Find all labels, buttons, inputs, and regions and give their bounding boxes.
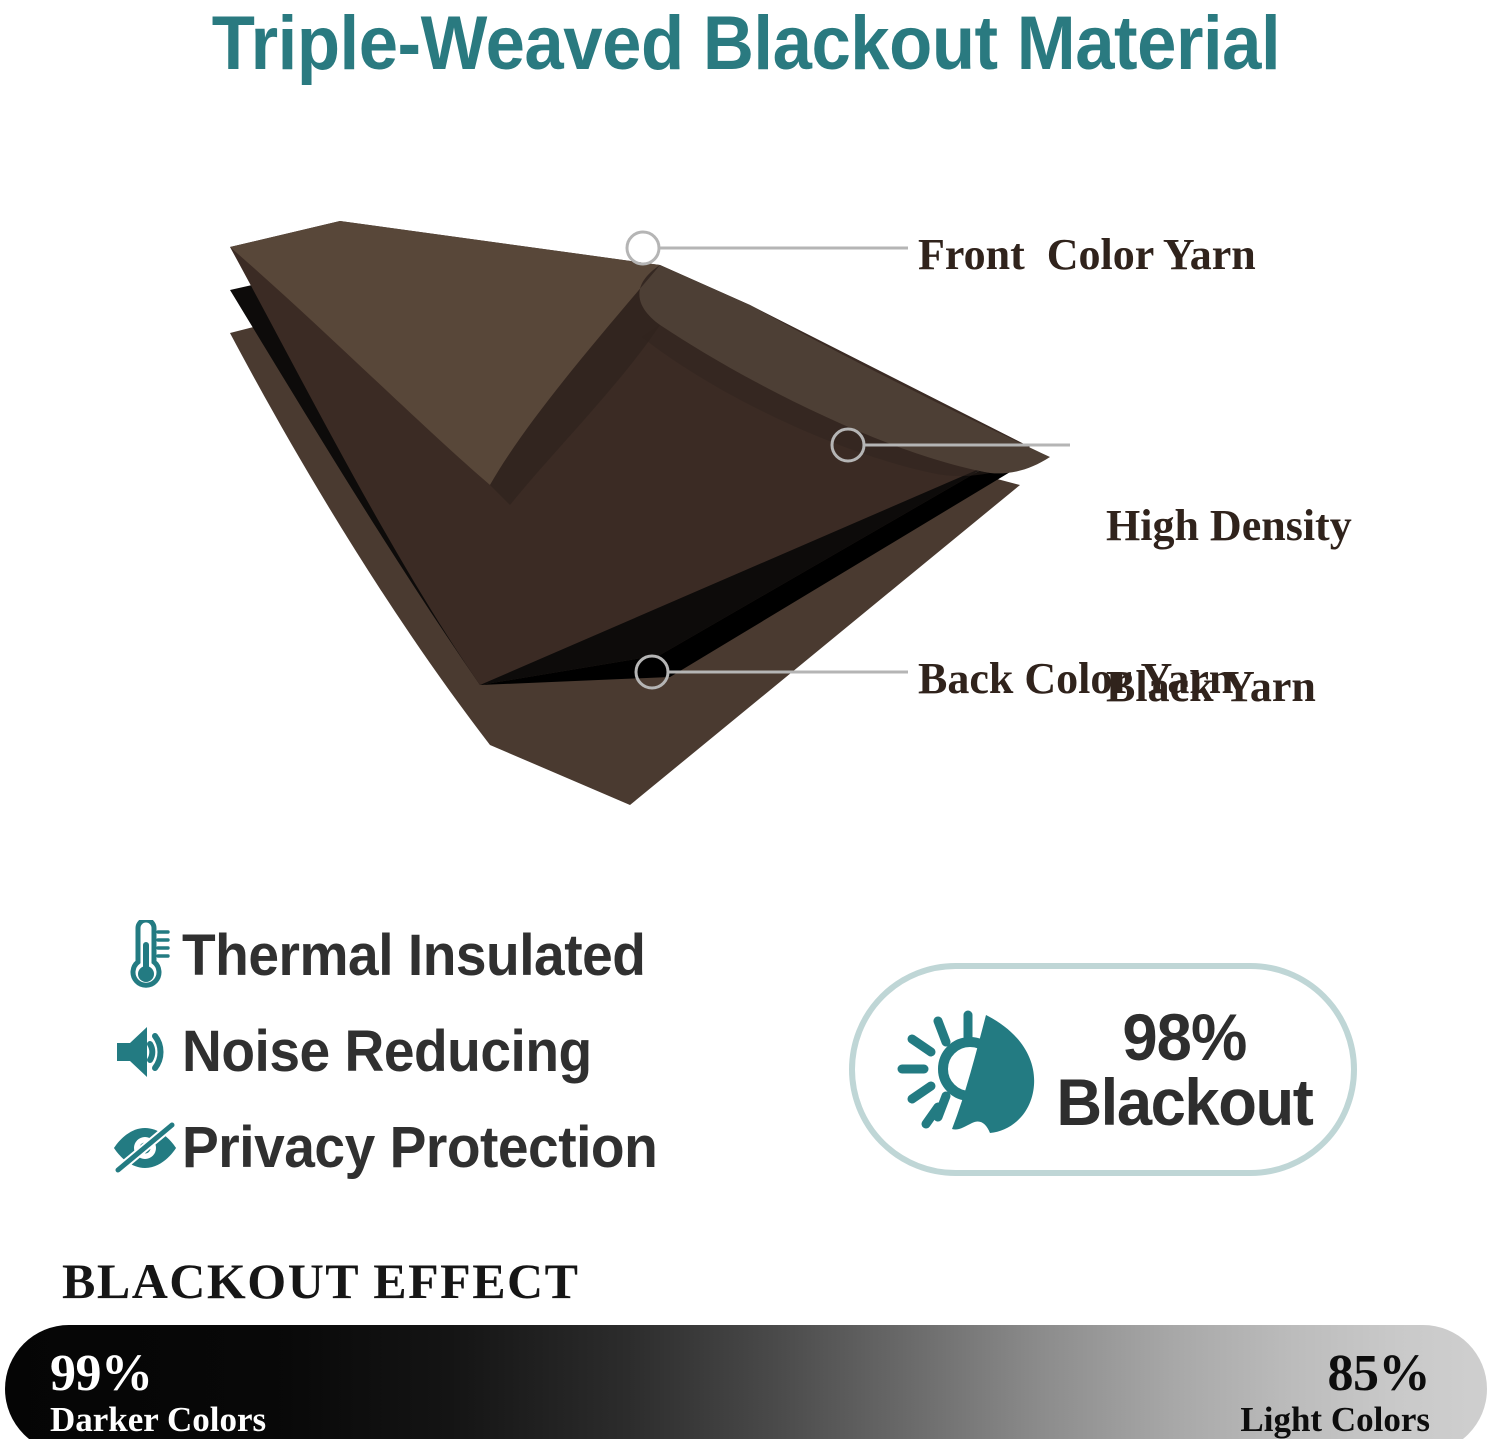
right-percent: 85%: [1240, 1347, 1430, 1401]
feature-list: Thermal Insulated Noise Reducing: [108, 908, 808, 1196]
label-line-1: High Density: [1106, 499, 1352, 553]
badge-word: Blackout: [1056, 1070, 1312, 1134]
gradient-bar-right-stat: 85% Light Colors: [1240, 1347, 1430, 1438]
page-title: Triple-Weaved Blackout Material: [52, 2, 1440, 86]
speaker-icon: [108, 1022, 182, 1082]
feature-item-noise: Noise Reducing: [108, 1004, 808, 1100]
badge-text: 98% Blackout: [1056, 1005, 1312, 1133]
feature-label-thermal: Thermal Insulated: [182, 926, 645, 986]
feature-label-privacy: Privacy Protection: [182, 1118, 657, 1178]
sun-blocked-icon: [889, 997, 1041, 1143]
label-front-color-yarn: Front Color Yarn: [918, 228, 1256, 282]
badge-percent: 98%: [1056, 1005, 1312, 1069]
feature-item-thermal: Thermal Insulated: [108, 908, 808, 1004]
blackout-badge: 98% Blackout: [849, 963, 1357, 1176]
left-percent: 99%: [50, 1347, 266, 1401]
label-high-density-black-yarn: High Density Black Yarn: [1106, 392, 1352, 821]
feature-label-noise: Noise Reducing: [182, 1022, 592, 1082]
gradient-bar-left-stat: 99% Darker Colors: [50, 1347, 266, 1438]
label-back-color-yarn: Back Color Yarn: [918, 652, 1233, 706]
product-infographic: Triple-Weaved Blackout Material: [0, 0, 1492, 1439]
eye-off-icon: [108, 1120, 182, 1176]
left-sublabel: Darker Colors: [50, 1402, 266, 1438]
feature-item-privacy: Privacy Protection: [108, 1100, 808, 1196]
right-sublabel: Light Colors: [1240, 1402, 1430, 1438]
thermometer-icon: [108, 920, 182, 992]
blackout-effect-heading: BLACKOUT EFFECT: [62, 1254, 580, 1308]
layer-front-color: [230, 221, 1050, 685]
leader-dot-front: [627, 232, 659, 264]
